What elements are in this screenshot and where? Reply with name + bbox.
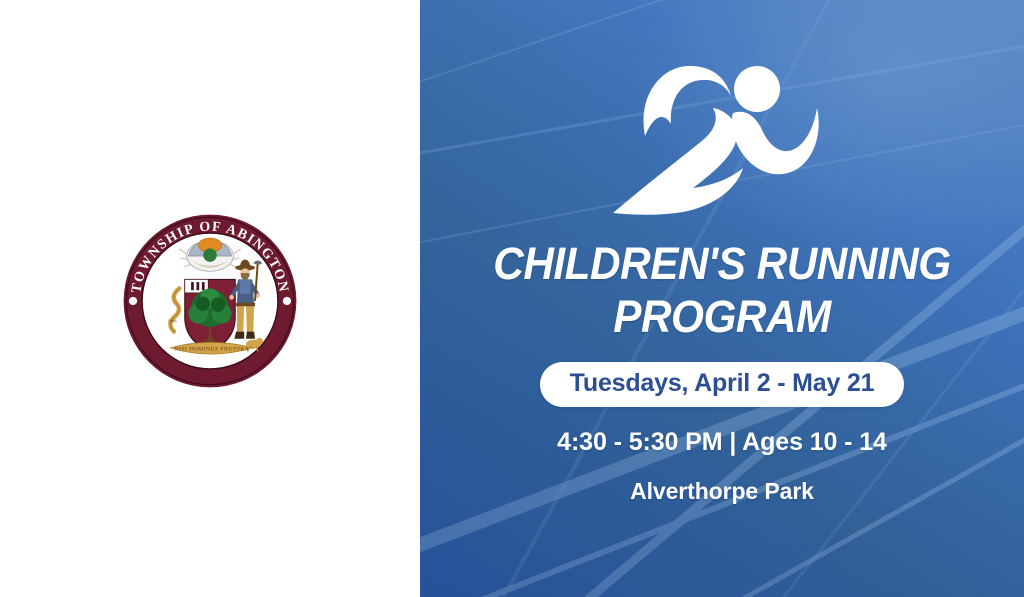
abington-township-seal: TOWNSHIP OF ABINGTON MONTGOMERY COUNTY, … (120, 211, 300, 391)
running-person-icon (597, 48, 847, 226)
date-badge: Tuesdays, April 2 - May 21 (540, 362, 905, 407)
title-line-1: CHILDREN'S RUNNING (493, 238, 951, 289)
time-and-ages-text: 4:30 - 5:30 PM | Ages 10 - 14 (557, 428, 887, 457)
event-flyer: TOWNSHIP OF ABINGTON MONTGOMERY COUNTY, … (0, 0, 1024, 597)
logo-panel: TOWNSHIP OF ABINGTON MONTGOMERY COUNTY, … (0, 0, 420, 597)
location-text: Alverthorpe Park (630, 478, 814, 505)
seal-motto-text: NISI DOMINUS FRUSTRA (174, 346, 249, 352)
title-line-2: PROGRAM (459, 291, 985, 344)
svg-text:1906: 1906 (168, 318, 178, 323)
seal-graphic: TOWNSHIP OF ABINGTON MONTGOMERY COUNTY, … (120, 211, 300, 391)
page-title: CHILDREN'S RUNNING PROGRAM (459, 238, 985, 343)
event-info-panel: CHILDREN'S RUNNING PROGRAM Tuesdays, Apr… (420, 0, 1024, 597)
